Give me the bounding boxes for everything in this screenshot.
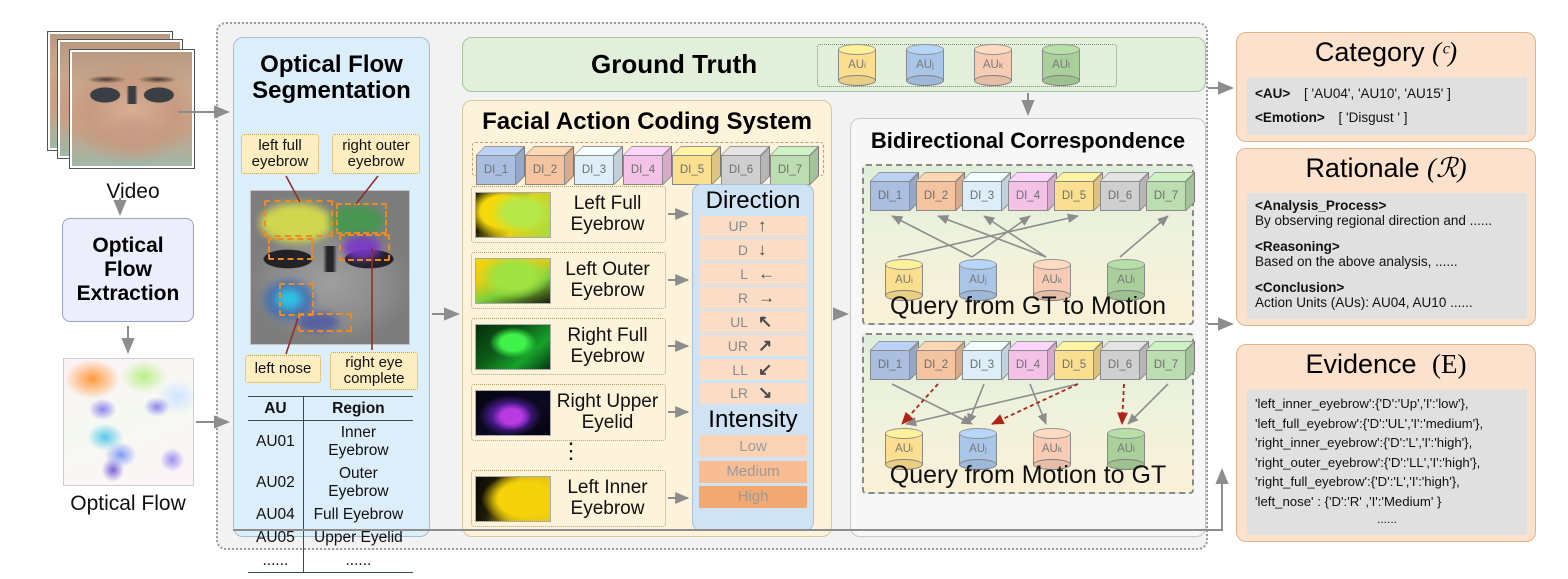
facs-ellipsis: ⋮ bbox=[560, 444, 580, 457]
rationale-title: Rationale (ℛ) bbox=[1237, 153, 1535, 184]
bc-bottom-cube-di-3: DI_3 bbox=[962, 341, 1011, 380]
bidirectional-title: Bidirectional Correspondence bbox=[851, 129, 1205, 153]
chip-right-outer-eyebrow: right outer eyebrow bbox=[332, 134, 420, 174]
facs-title: Facial Action Coding System bbox=[463, 109, 831, 135]
arrow-upper-left-icon: ↖ bbox=[758, 312, 784, 332]
region-cell: Inner Eyebrow bbox=[303, 421, 413, 463]
rationale-section-analysis: <Analysis_Process> By observing regional… bbox=[1255, 198, 1492, 228]
table-row: AU01 Inner Eyebrow bbox=[248, 421, 413, 463]
arrow-upper-right-icon: ↗ bbox=[758, 336, 784, 356]
segmented-face-image bbox=[250, 190, 410, 345]
direction-row-l: L ← bbox=[699, 263, 807, 285]
bc-bottom-cube-di-1: DI_1 bbox=[870, 341, 919, 380]
au-cell: AU04 bbox=[248, 503, 303, 526]
region-cell: Upper Eyelid bbox=[303, 526, 413, 549]
chip-left-nose: left nose bbox=[245, 355, 321, 383]
evidence-body: 'left_inner_eyebrow':{'D':'Up','I':'low'… bbox=[1247, 389, 1527, 535]
arrow-lower-left-icon: ↙ bbox=[758, 360, 784, 380]
facs-region-row-2: Right Full Eyebrow bbox=[471, 318, 666, 375]
facs-region-row-4: Left Inner Eyebrow bbox=[471, 470, 666, 527]
evidence-panel: Evidence (E) 'left_inner_eyebrow':{'D':'… bbox=[1236, 344, 1536, 542]
bc-bottom-cube-di-4: DI_4 bbox=[1008, 341, 1057, 380]
bc-top-cube-di-3: DI_3 bbox=[962, 172, 1011, 211]
facs-region-row-0: Left Full Eyebrow bbox=[471, 186, 666, 243]
direction-row-d: D ↓ bbox=[699, 239, 807, 261]
gt-au-unit-k: AUk bbox=[974, 44, 1012, 86]
intensity-row-high: High bbox=[699, 486, 807, 508]
region-cell: ...... bbox=[303, 549, 413, 573]
rationale-panel: Rationale (ℛ) <Analysis_Process> By obse… bbox=[1236, 148, 1536, 326]
bc-bottom-cube-di-6: DI_6 bbox=[1100, 341, 1149, 380]
au-table-header-au: AU bbox=[248, 397, 303, 421]
direction-intensity-panel: Direction UP ↑ D ↓ L ← R → UL ↖ UR ↗ LL … bbox=[692, 184, 814, 531]
diagram-canvas: Video Optical Flow Extraction Optical Fl… bbox=[0, 0, 1568, 579]
bc-bottom-cube-di-5: DI_5 bbox=[1054, 341, 1103, 380]
video-frame-front bbox=[70, 50, 194, 168]
ofs-title: Optical Flow Segmentation bbox=[234, 52, 429, 104]
gt-au-label-k: AUk bbox=[974, 44, 1012, 86]
intensity-row-low: Low bbox=[699, 435, 807, 457]
gt-au-unit-l: AUl bbox=[1042, 44, 1080, 86]
table-row: AU04 Full Eyebrow bbox=[248, 503, 413, 526]
bc-bottom-cube-di-2: DI_2 bbox=[916, 341, 965, 380]
category-body: <AU> [ 'AU04', 'AU10', 'AU15' ] <Emotion… bbox=[1247, 77, 1527, 135]
rationale-symbol: (ℛ) bbox=[1427, 153, 1467, 183]
chip-left-full-eyebrow: left full eyebrow bbox=[241, 134, 319, 174]
gt-au-label-l: AUl bbox=[1042, 44, 1080, 86]
video-caption: Video bbox=[48, 180, 218, 204]
bc-top-cube-di-5: DI_5 bbox=[1054, 172, 1103, 211]
direction-row-r: R → bbox=[699, 287, 807, 309]
bc-top-cube-di-6: DI_6 bbox=[1100, 172, 1149, 211]
facs-cube-di-4: DI_4 bbox=[623, 146, 672, 185]
arrow-left-icon: ← bbox=[758, 264, 784, 284]
au-cell: AU01 bbox=[248, 421, 303, 463]
direction-row-ul: UL ↖ bbox=[699, 311, 807, 333]
direction-title: Direction bbox=[706, 188, 801, 214]
facs-cube-di-5: DI_5 bbox=[672, 146, 721, 185]
optical-flow-extraction-box: Optical Flow Extraction bbox=[62, 218, 194, 322]
facs-region-row-1: Left Outer Eyebrow bbox=[471, 252, 666, 309]
bc-top-cube-di-1: DI_1 bbox=[870, 172, 919, 211]
direction-row-lr: LR ↘ bbox=[699, 383, 807, 405]
category-title: Category (ᶜ) bbox=[1237, 37, 1535, 68]
evidence-title: Evidence (E) bbox=[1237, 349, 1535, 380]
category-panel: Category (ᶜ) <AU> [ 'AU04', 'AU10', 'AU1… bbox=[1236, 32, 1536, 142]
facs-region-row-3: Right Upper Eyelid bbox=[471, 384, 666, 441]
au-region-table: AU Region AU01 Inner Eyebrow AU02 Outer … bbox=[248, 396, 413, 573]
right-upper-eyelid-flow bbox=[475, 390, 551, 436]
region-cell: Full Eyebrow bbox=[303, 503, 413, 526]
ground-truth-title: Ground Truth bbox=[591, 50, 757, 78]
bc-bottom-cube-di-7: DI_7 bbox=[1146, 341, 1195, 380]
optical-flow-image bbox=[63, 358, 194, 486]
au-table-header-region: Region bbox=[303, 397, 413, 421]
table-row: AU05 Upper Eyelid bbox=[248, 526, 413, 549]
arrow-down-icon: ↓ bbox=[758, 240, 784, 260]
intensity-row-medium: Medium bbox=[699, 461, 807, 483]
facs-cube-di-1: DI_1 bbox=[476, 146, 525, 185]
gt-au-unit-i: AUi bbox=[838, 44, 876, 86]
gt-au-unit-j: AUj bbox=[906, 44, 944, 86]
facs-cube-di-7: DI_7 bbox=[770, 146, 819, 185]
bc-top-cube-di-2: DI_2 bbox=[916, 172, 965, 211]
left-inner-eyebrow-flow bbox=[475, 476, 551, 522]
table-row: ...... ...... bbox=[248, 549, 413, 573]
region-cell: Outer Eyebrow bbox=[303, 462, 413, 503]
rationale-section-reasoning: <Reasoning> Based on the above analysis,… bbox=[1255, 239, 1458, 269]
chip-right-eye-complete: right eye complete bbox=[330, 352, 418, 390]
rationale-section-conclusion: <Conclusion> Action Units (AUs): AU04, A… bbox=[1255, 280, 1473, 310]
direction-row-ur: UR ↗ bbox=[699, 335, 807, 357]
arrow-lower-right-icon: ↘ bbox=[758, 383, 784, 403]
au-cell: AU05 bbox=[248, 526, 303, 549]
evidence-ellipsis: ...... bbox=[1255, 511, 1519, 529]
category-au-row: <AU> [ 'AU04', 'AU10', 'AU15' ] bbox=[1255, 86, 1451, 101]
rationale-body: <Analysis_Process> By observing regional… bbox=[1247, 193, 1527, 319]
bc-top-cube-di-4: DI_4 bbox=[1008, 172, 1057, 211]
arrow-right-icon: → bbox=[758, 288, 784, 308]
table-row: AU02 Outer Eyebrow bbox=[248, 462, 413, 503]
category-symbol: (ᶜ) bbox=[1432, 37, 1457, 67]
facs-cube-di-6: DI_6 bbox=[721, 146, 770, 185]
arrow-up-icon: ↑ bbox=[758, 216, 784, 236]
left-outer-eyebrow-flow bbox=[475, 258, 551, 304]
query-gt-to-motion-caption: Query from GT to Motion bbox=[862, 292, 1194, 321]
intensity-title: Intensity bbox=[708, 407, 797, 433]
facs-cube-di-2: DI_2 bbox=[525, 146, 574, 185]
gt-au-label-i: AUi bbox=[838, 44, 876, 86]
au-cell: ...... bbox=[248, 549, 303, 573]
facs-cube-di-3: DI_3 bbox=[574, 146, 623, 185]
left-full-eyebrow-flow bbox=[475, 192, 551, 238]
evidence-lines: 'left_inner_eyebrow':{'D':'Up','I':'low'… bbox=[1255, 394, 1519, 529]
direction-row-ll: LL ↙ bbox=[699, 359, 807, 381]
au-cell: AU02 bbox=[248, 462, 303, 503]
evidence-symbol: (E) bbox=[1432, 349, 1466, 379]
query-motion-to-gt-caption: Query from Motion to GT bbox=[862, 461, 1194, 490]
ground-truth-panel: Ground Truth bbox=[462, 37, 1206, 92]
video-frame-stack bbox=[48, 32, 208, 172]
direction-row-up: UP ↑ bbox=[699, 216, 807, 238]
category-emotion-row: <Emotion> [ 'Disgust ' ] bbox=[1255, 110, 1407, 125]
gt-au-label-j: AUj bbox=[906, 44, 944, 86]
right-full-eyebrow-flow bbox=[475, 324, 551, 370]
bc-top-cube-di-7: DI_7 bbox=[1146, 172, 1195, 211]
optical-flow-caption: Optical Flow bbox=[42, 492, 214, 516]
